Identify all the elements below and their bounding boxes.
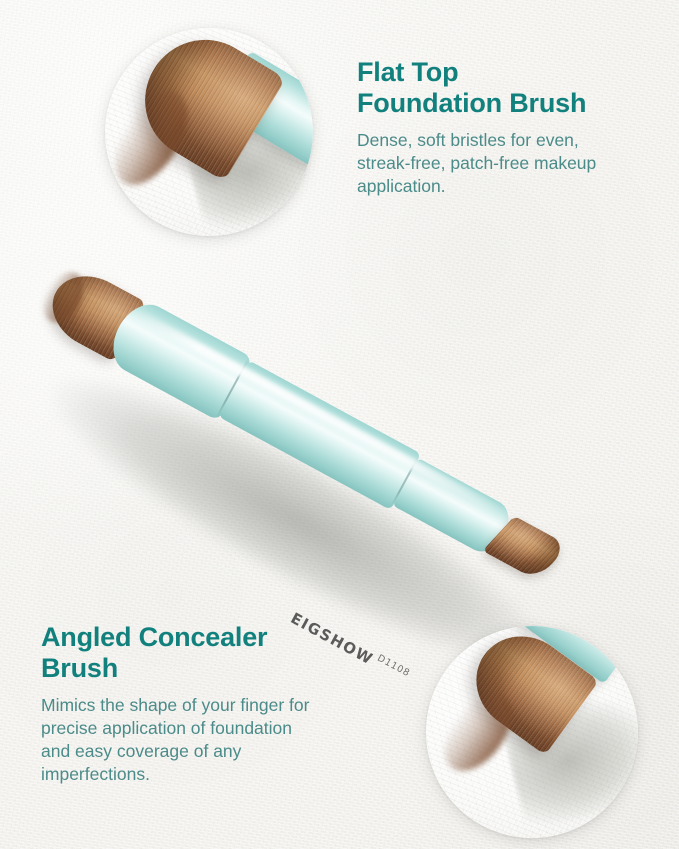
flat-top-text-block: Flat Top Foundation Brush Dense, soft br… — [357, 57, 657, 198]
angled-concealer-headline: Angled Concealer Brush — [41, 622, 361, 685]
main-brush: EIGSHOW D1108 — [0, 220, 679, 640]
product-infographic: Flat Top Foundation Brush Dense, soft br… — [0, 0, 679, 849]
flat-top-brush-photo — [105, 28, 313, 236]
angled-concealer-photo — [426, 626, 638, 838]
angled-concealer-body: Mimics the shape of your finger for prec… — [41, 694, 361, 787]
angled-concealer-text-block: Angled Concealer Brush Mimics the shape … — [41, 622, 361, 787]
flat-top-headline: Flat Top Foundation Brush — [357, 57, 657, 120]
flat-top-body: Dense, soft bristles for even, streak-fr… — [357, 129, 657, 199]
